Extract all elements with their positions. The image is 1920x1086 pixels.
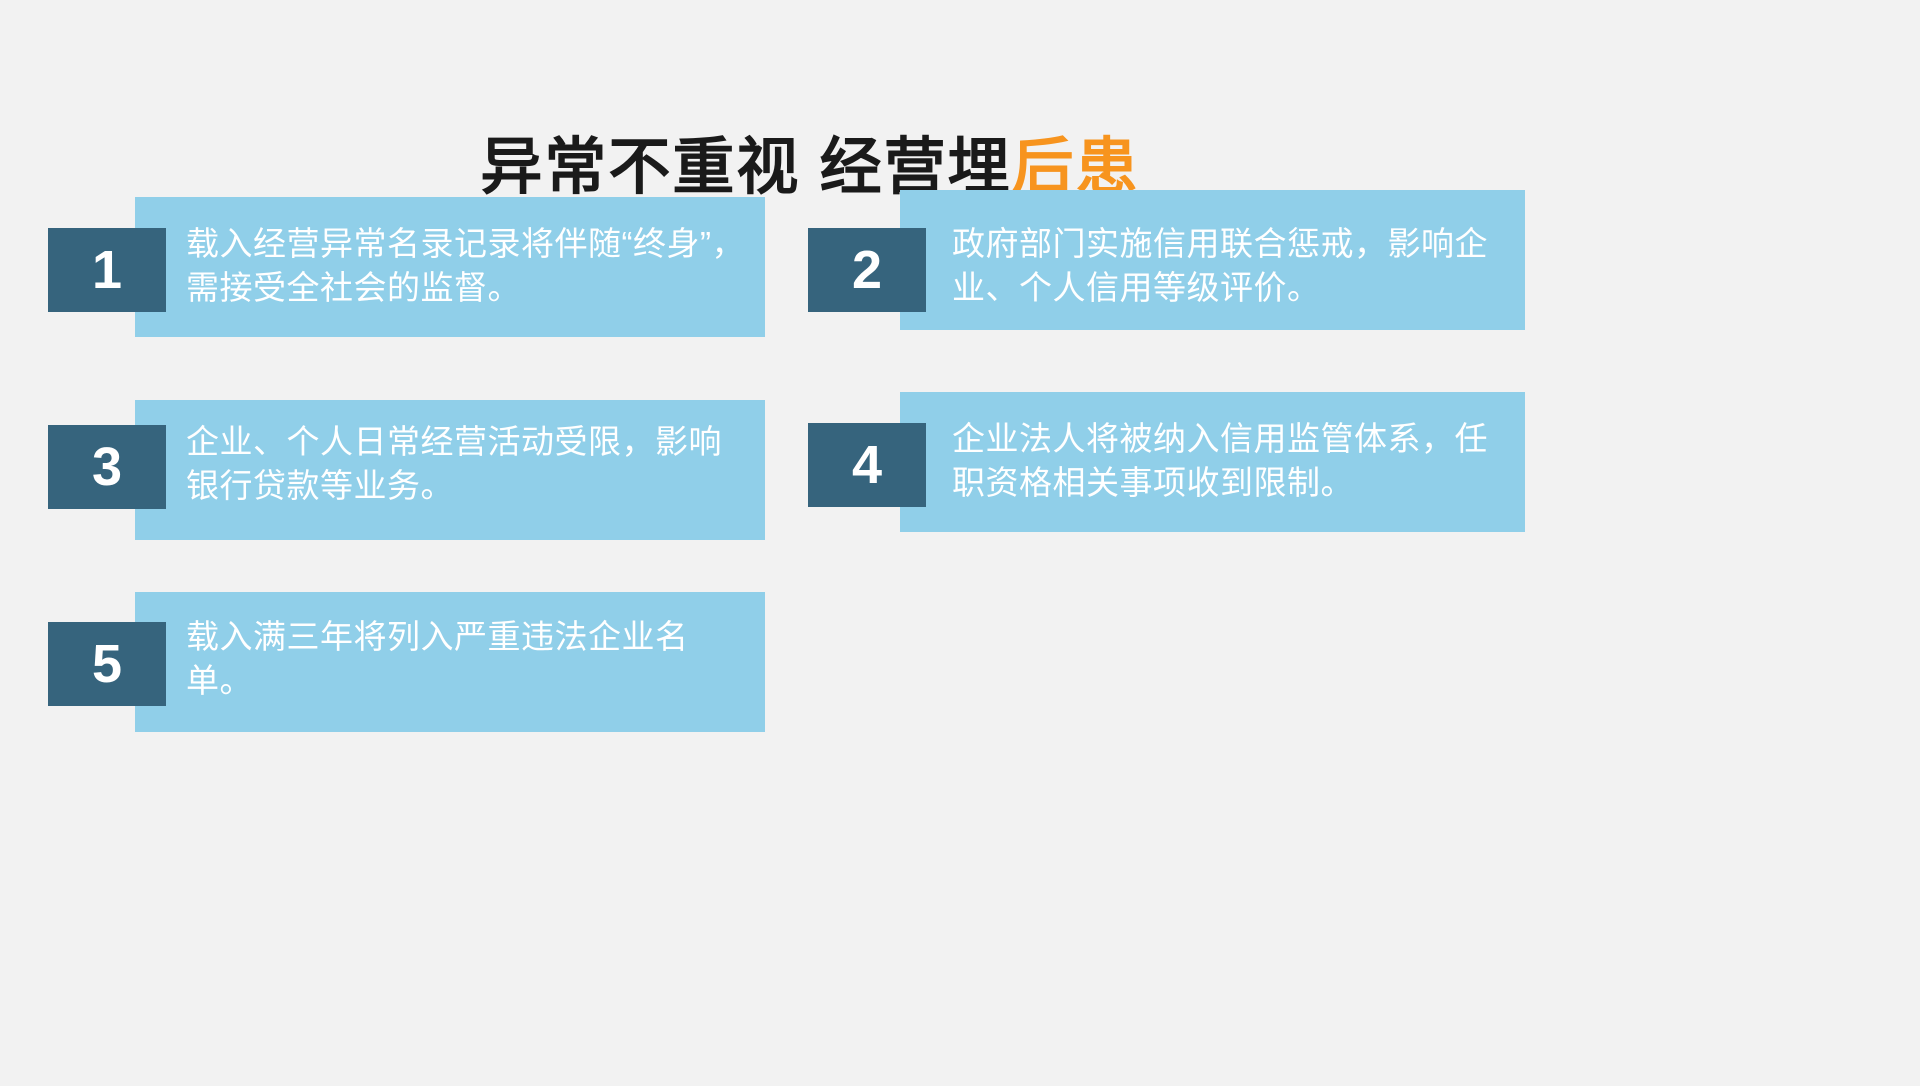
card-number-badge: 4 [808, 423, 926, 507]
card-number-badge: 2 [808, 228, 926, 312]
card-body-text: 载入满三年将列入严重违法企业名单。 [186, 615, 746, 703]
card-number-badge: 1 [48, 228, 166, 312]
card-body-text: 企业法人将被纳入信用监管体系，任职资格相关事项收到限制。 [952, 417, 1508, 505]
card-number-badge: 5 [48, 622, 166, 706]
consequence-card-list: 1 载入经营异常名录记录将伴随“终身”，需接受全社会的监督。 2 政府部门实施信… [0, 0, 1920, 1086]
card-body-text: 政府部门实施信用联合惩戒，影响企业、个人信用等级评价。 [952, 222, 1508, 310]
card-body-text: 载入经营异常名录记录将伴随“终身”，需接受全社会的监督。 [186, 222, 746, 310]
card-number-badge: 3 [48, 425, 166, 509]
card-body-text: 企业、个人日常经营活动受限，影响银行贷款等业务。 [186, 420, 746, 508]
